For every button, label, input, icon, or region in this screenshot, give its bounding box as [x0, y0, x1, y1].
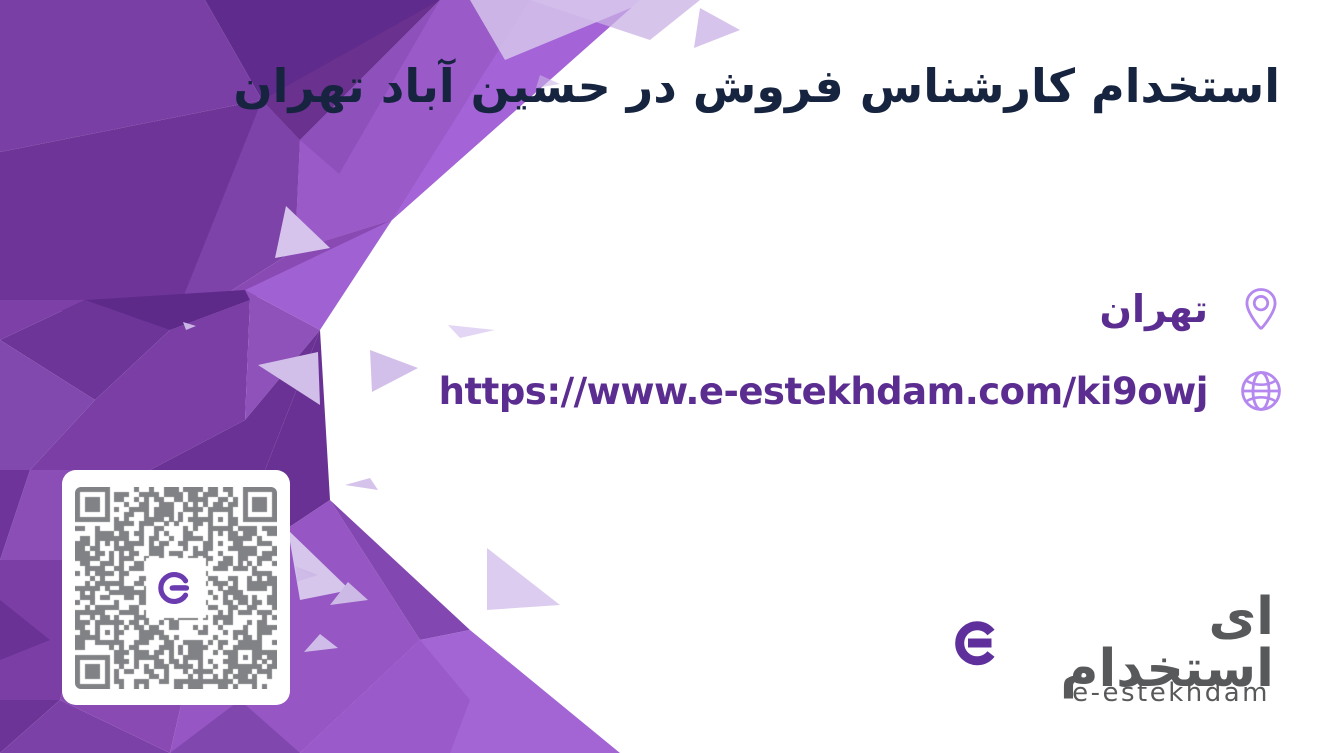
polygon-shape [470, 0, 650, 60]
polygon-shape [245, 220, 392, 330]
globe-icon [1234, 364, 1288, 418]
polygon-shape [330, 582, 368, 605]
polygon-shape [30, 300, 250, 470]
polygon-shape [150, 330, 320, 470]
polygon-shape [295, 140, 392, 250]
polygon-shape [170, 220, 392, 330]
polygon-shape [694, 8, 740, 48]
job-share-card: استخدام کارشناس فروش در حسین آباد تهران … [0, 0, 1340, 753]
polygon-shape [345, 478, 378, 490]
polygon-shape [245, 290, 320, 420]
polygon-shape [296, 566, 312, 582]
polygon-shape [0, 600, 50, 660]
polygon-shape [0, 470, 30, 560]
polygon-shape [300, 640, 470, 753]
brand-logo: ای استخدام e-estekhdam [944, 614, 1274, 710]
info-row-location: تهران [488, 268, 1288, 350]
polygon-shape [288, 530, 350, 600]
polygon-shape [370, 350, 418, 392]
polygon-shape [258, 352, 320, 405]
polygon-shape [170, 700, 300, 753]
polygon-shape [0, 340, 95, 470]
polygon-shape [295, 0, 530, 250]
info-row-url[interactable]: https://www.e-estekhdam.com/ki9owj [488, 350, 1288, 432]
polygon-shape [275, 206, 330, 258]
qr-code-icon[interactable] [62, 470, 290, 705]
polygon-shape [295, 0, 640, 250]
url-label[interactable]: https://www.e-estekhdam.com/ki9owj [439, 370, 1208, 413]
polygon-shape [330, 500, 470, 640]
polygon-shape [183, 322, 196, 330]
polygon-shape [0, 300, 170, 400]
polygon-shape [300, 630, 620, 753]
polygon-shape [0, 300, 85, 340]
polygon-shape [0, 100, 300, 330]
polygon-shape [530, 0, 700, 40]
e-letter-mark [944, 614, 1006, 672]
polygon-shape [0, 700, 170, 753]
polygon-shape [170, 220, 392, 330]
e-letter-mark [148, 560, 204, 616]
brand-name-latin: e-estekhdam [944, 678, 1274, 708]
polygon-shape [487, 548, 560, 610]
polygon-shape [0, 700, 60, 753]
polygon-shape [300, 568, 318, 580]
page-title: استخدام کارشناس فروش در حسین آباد تهران [40, 58, 1280, 116]
polygon-shape [170, 100, 300, 330]
polygon-shape [0, 290, 250, 330]
info-list: تهران https://www.e-estekhdam.com/ki9owj [488, 268, 1288, 432]
brand-logo-main: ای استخدام [944, 614, 1274, 672]
polygon-shape [304, 634, 338, 652]
map-pin-icon [1234, 282, 1288, 336]
location-label: تهران [1100, 287, 1208, 331]
